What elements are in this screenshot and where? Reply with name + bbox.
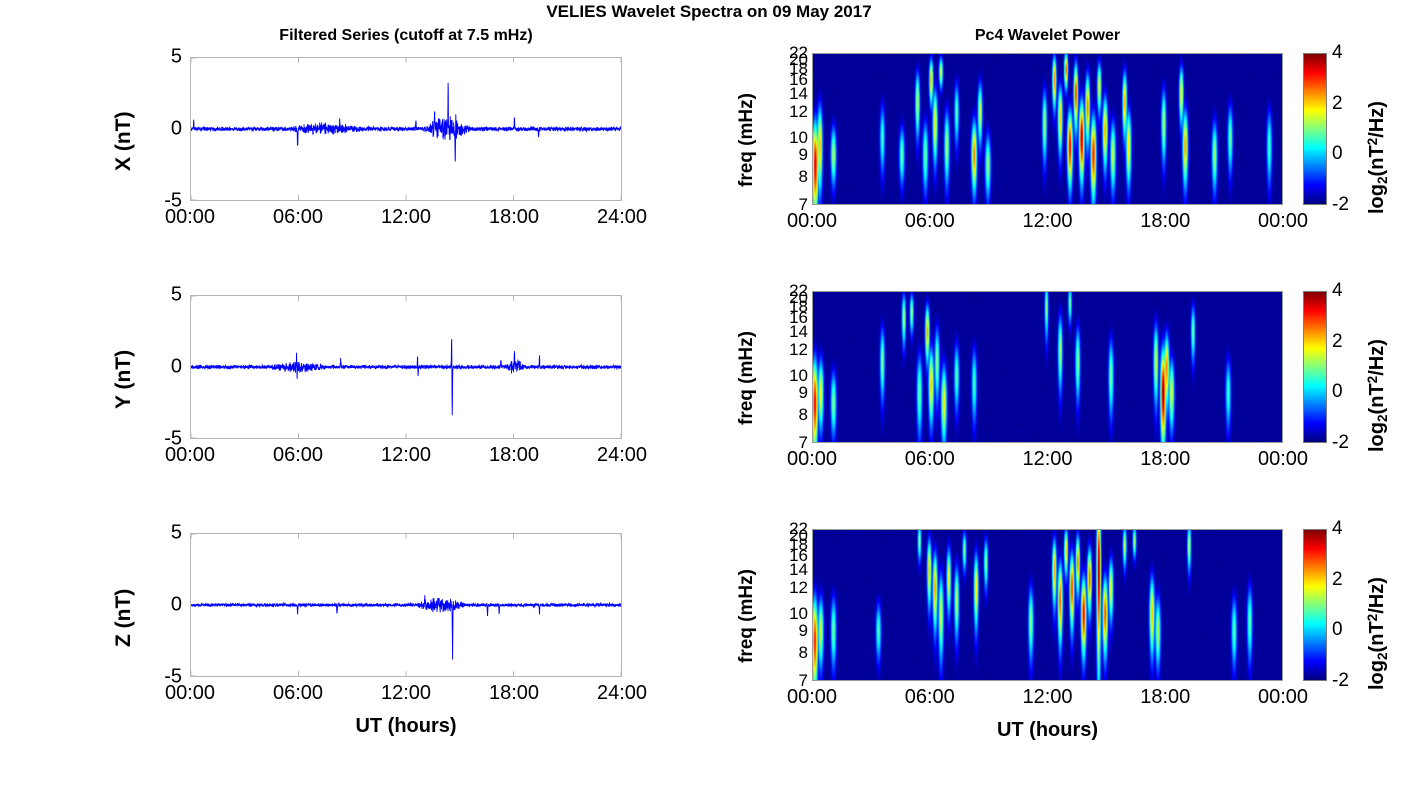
freq-axis-label: freq (mHz) (736, 331, 758, 425)
xtick-label: 06:00 (243, 444, 353, 467)
xtick-label: 18:00 (459, 444, 569, 467)
freq-tick-label: 8 (768, 643, 808, 663)
xtick-label: 06:00 (243, 682, 353, 705)
left-column-title: Filtered Series (cutoff at 7.5 mHz) (190, 27, 622, 45)
ytick-label: 0 (138, 356, 182, 379)
colorbar-tick-label: 2 (1332, 331, 1368, 353)
timeseries-axes-z (190, 533, 622, 677)
xtick-label: 18:00 (1110, 448, 1220, 471)
timeseries-axes-y (190, 295, 622, 439)
freq-axis-label: freq (mHz) (736, 93, 758, 187)
colorbar-tick-label: -2 (1332, 194, 1368, 216)
freq-tick-label: 8 (768, 405, 808, 425)
right-xaxis-label: UT (hours) (812, 719, 1283, 742)
xtick-label: 18:00 (1110, 210, 1220, 233)
xtick-label: 00:00 (757, 448, 867, 471)
xtick-label: 00:00 (135, 206, 245, 229)
colorbar-tick-label: 0 (1332, 143, 1368, 165)
xtick-label: 24:00 (567, 444, 677, 467)
freq-tick-label: 22 (768, 43, 808, 63)
xtick-label: 12:00 (993, 686, 1103, 709)
figure-suptitle: VELIES Wavelet Spectra on 09 May 2017 (0, 2, 1418, 22)
colorbar-label: log2(nT2/Hz) (1365, 577, 1390, 690)
colorbar-tick-label: 4 (1332, 518, 1368, 540)
timeseries-axes-x (190, 57, 622, 201)
xtick-label: 00:00 (757, 210, 867, 233)
colorbar-tick-label: 2 (1332, 569, 1368, 591)
xtick-label: 00:00 (1228, 448, 1338, 471)
colorbar (1303, 291, 1327, 443)
colorbar-gradient (1304, 530, 1326, 680)
xtick-label: 12:00 (351, 206, 461, 229)
freq-tick-label: 22 (768, 281, 808, 301)
colorbar (1303, 529, 1327, 681)
ytick-label: 0 (138, 594, 182, 617)
freq-tick-label: 12 (768, 102, 808, 122)
ytick-label: 5 (138, 46, 182, 69)
xtick-label: 18:00 (459, 682, 569, 705)
freq-tick-label: 10 (768, 604, 808, 624)
colorbar-tick-label: 2 (1332, 93, 1368, 115)
xtick-label: 00:00 (1228, 686, 1338, 709)
figure-canvas: VELIES Wavelet Spectra on 09 May 2017 Fi… (0, 0, 1418, 788)
freq-tick-label: 8 (768, 167, 808, 187)
freq-axis-label: freq (mHz) (736, 569, 758, 663)
colorbar-label: log2(nT2/Hz) (1365, 101, 1390, 214)
colorbar-gradient (1304, 54, 1326, 204)
ytick-label: 5 (138, 284, 182, 307)
ytick-label: 5 (138, 522, 182, 545)
colorbar-gradient (1304, 292, 1326, 442)
xtick-label: 12:00 (351, 444, 461, 467)
spectrogram-axes-y (812, 291, 1283, 443)
ytick-label: 0 (138, 118, 182, 141)
freq-tick-label: 22 (768, 519, 808, 539)
left-xaxis-label: UT (hours) (190, 715, 622, 738)
xtick-label: 24:00 (567, 206, 677, 229)
xtick-label: 18:00 (459, 206, 569, 229)
freq-tick-label: 10 (768, 366, 808, 386)
colorbar-tick-label: 4 (1332, 280, 1368, 302)
yaxis-label: Z (nT) (112, 589, 136, 647)
spectrogram-image (813, 530, 1282, 680)
freq-tick-label: 9 (768, 383, 808, 403)
xtick-label: 06:00 (875, 210, 985, 233)
xtick-label: 00:00 (757, 686, 867, 709)
yaxis-label: X (nT) (112, 112, 136, 171)
right-column-title: Pc4 Wavelet Power (812, 27, 1283, 45)
colorbar-tick-label: -2 (1332, 670, 1368, 692)
xtick-label: 12:00 (351, 682, 461, 705)
freq-tick-label: 10 (768, 128, 808, 148)
freq-tick-label: 12 (768, 340, 808, 360)
yaxis-label: Y (nT) (112, 350, 136, 409)
xtick-label: 12:00 (993, 210, 1103, 233)
spectrogram-axes-x (812, 53, 1283, 205)
freq-tick-label: 12 (768, 578, 808, 598)
xtick-label: 00:00 (1228, 210, 1338, 233)
xtick-label: 12:00 (993, 448, 1103, 471)
xtick-label: 00:00 (135, 682, 245, 705)
xtick-label: 06:00 (243, 206, 353, 229)
spectrogram-image (813, 54, 1282, 204)
colorbar-label: log2(nT2/Hz) (1365, 339, 1390, 452)
xtick-label: 24:00 (567, 682, 677, 705)
colorbar-tick-label: 0 (1332, 619, 1368, 641)
freq-tick-label: 9 (768, 621, 808, 641)
xtick-label: 18:00 (1110, 686, 1220, 709)
colorbar-tick-label: 4 (1332, 42, 1368, 64)
colorbar-tick-label: 0 (1332, 381, 1368, 403)
colorbar (1303, 53, 1327, 205)
spectrogram-axes-z (812, 529, 1283, 681)
freq-tick-label: 9 (768, 145, 808, 165)
colorbar-tick-label: -2 (1332, 432, 1368, 454)
xtick-label: 06:00 (875, 686, 985, 709)
spectrogram-image (813, 292, 1282, 442)
xtick-label: 00:00 (135, 444, 245, 467)
xtick-label: 06:00 (875, 448, 985, 471)
